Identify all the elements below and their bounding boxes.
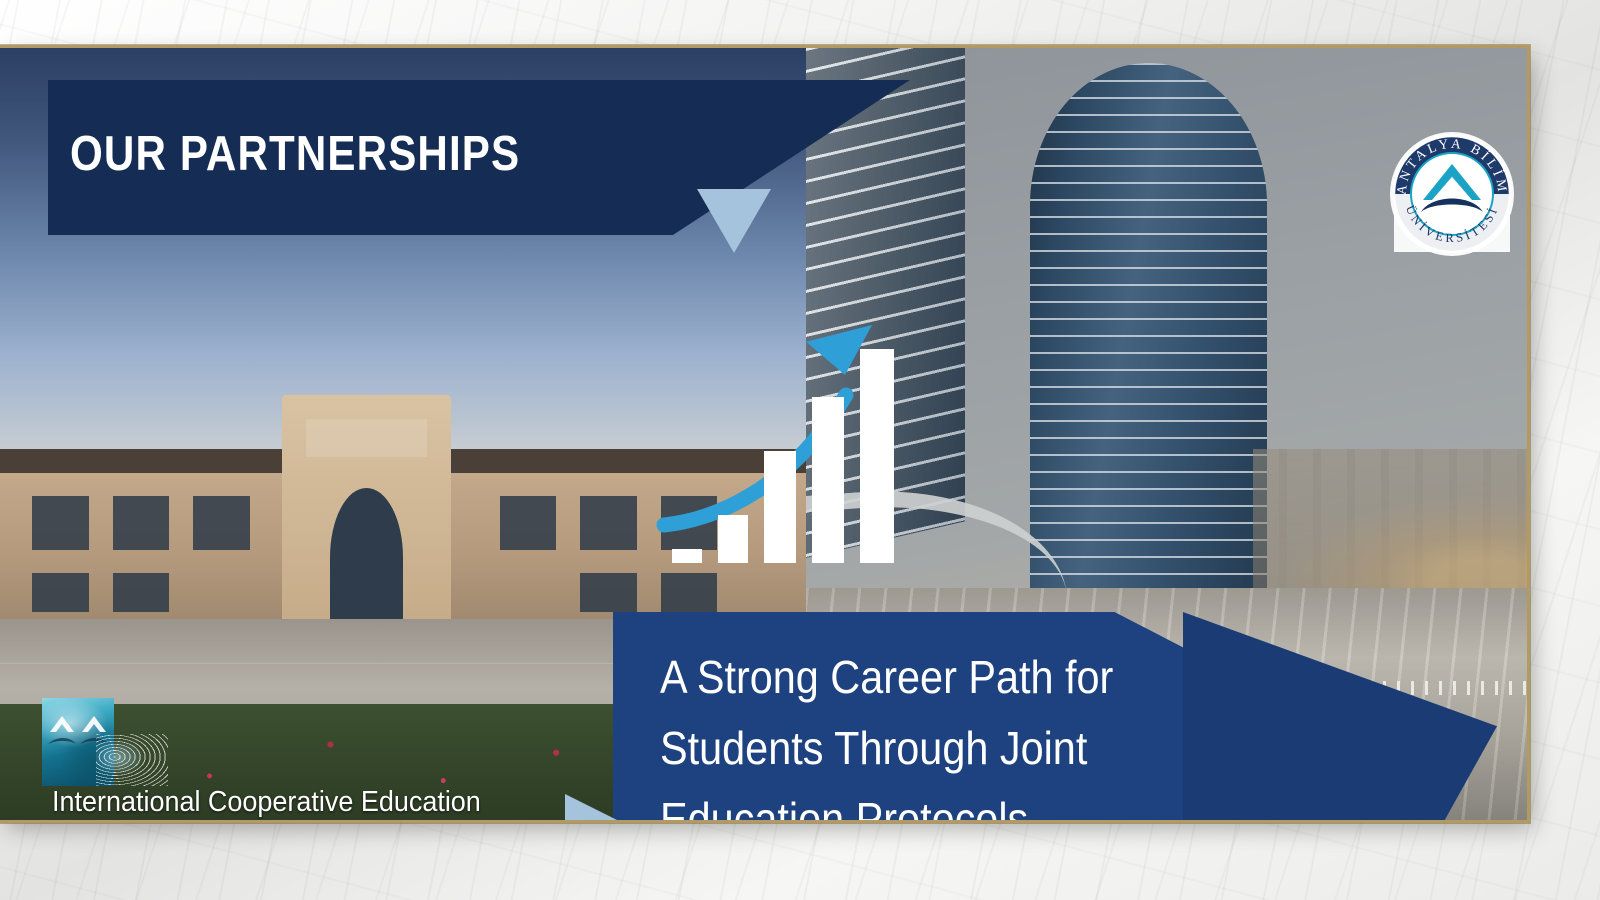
campus-gate-arch [330,488,403,627]
campus-window [32,496,88,550]
chart-bar [672,549,702,563]
campus-window [580,496,636,550]
growth-bar-chart [660,313,920,563]
campus-window [113,573,169,612]
campus-window [113,496,169,550]
campus-window [500,496,556,550]
ice-cube-logo [42,698,152,788]
campus-window [580,573,636,612]
campus-window [32,573,88,612]
artwork-frame: OUR PARTNERSHIPS ANTALYA BİLİM [0,48,1527,820]
campus-window [661,573,717,612]
headline-line: Education Protocols [660,784,1128,820]
chart-bar [860,349,894,563]
page-title: OUR PARTNERSHIPS [70,126,520,182]
headline-text: A Strong Career Path for Students Throug… [660,642,1128,820]
poster-canvas: OUR PARTNERSHIPS ANTALYA BİLİM [0,0,1600,900]
campus-gate-sign [306,419,427,458]
ice-title: International Cooperative Education [52,786,481,819]
glass-tower [1030,63,1268,634]
water-ripple [96,734,168,786]
headline-line: A Strong Career Path for [660,642,1128,713]
headline-line: Students Through Joint [660,713,1128,784]
chart-bar [718,515,748,563]
ice-logo-lockup: International Cooperative Education ANTA… [30,698,420,820]
university-seal-logo: ANTALYA BİLİM ÜNİVERSİTESİ [1388,130,1516,258]
chart-bar [812,397,844,563]
chart-bar [764,451,796,563]
campus-window [193,496,249,550]
